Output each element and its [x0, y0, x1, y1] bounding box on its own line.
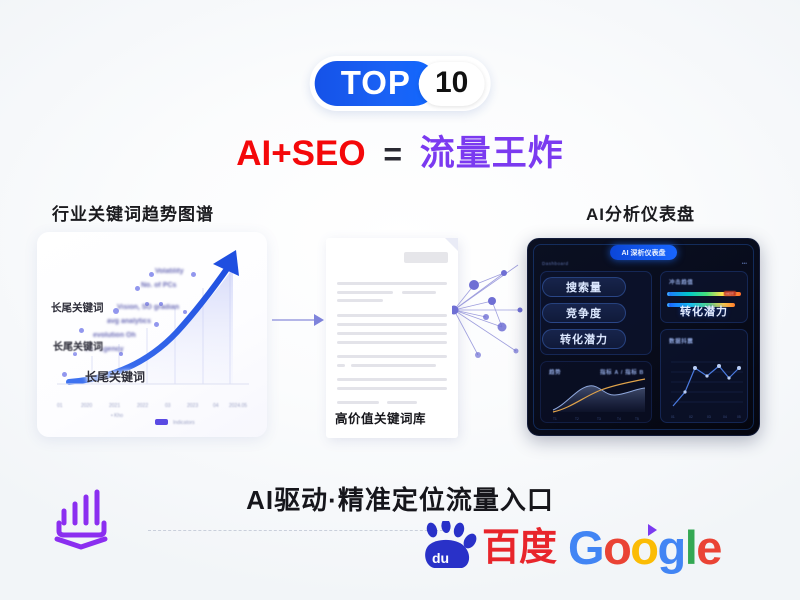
blur-word: Volatility: [155, 268, 184, 275]
google-logo-text: Google: [568, 524, 721, 571]
doc-text-line: [337, 314, 447, 317]
title-traffic: 流量王炸: [420, 134, 564, 173]
top-badge-number: 10: [419, 62, 484, 106]
ai-dashboard-card: AI 深析仪表盘 Dashboard ••• 搜索量 竞争度 转化潜力 冲击趋值…: [527, 238, 760, 436]
section-label-keyword-trend: 行业关键词趋势图谱: [52, 200, 214, 225]
axis-tick: 2023: [187, 403, 198, 409]
data-dot: [154, 322, 159, 327]
svg-text:03: 03: [707, 415, 711, 419]
svg-text:T3: T3: [597, 417, 601, 421]
doc-text-line: [337, 299, 383, 302]
hot-tag: HOT: [724, 291, 736, 296]
top-rank-badge: TOP 10: [310, 56, 491, 111]
play-triangle-icon: [648, 524, 657, 536]
doc-text-line: [337, 378, 447, 381]
keyword-label: 长尾关键词: [85, 368, 145, 385]
metric-pill-search-volume[interactable]: 搜索量: [542, 277, 626, 297]
doc-text-line: [337, 355, 447, 358]
svg-text:05: 05: [737, 415, 741, 419]
page-fold-icon: [445, 238, 458, 251]
data-dot: [191, 272, 196, 277]
axis-tick: 04: [213, 403, 219, 409]
baidu-du-text: du: [432, 550, 449, 566]
svg-text:T5: T5: [635, 417, 639, 421]
bar-chart-pedestal-icon: [47, 487, 119, 551]
metric-pill-conversion[interactable]: 转化潜力: [542, 329, 626, 349]
doc-text-line: [337, 332, 447, 335]
search-engine-logos: du 百度 Google: [418, 521, 721, 573]
legend-swatch: [155, 419, 168, 425]
svg-text:T2: T2: [575, 417, 579, 421]
doc-text-line: [402, 291, 436, 294]
legend-label: Indicators: [173, 420, 195, 426]
node-network-graphic: [452, 255, 530, 365]
doc-caption: 高价值关键词库: [335, 408, 426, 427]
keyword-library-document: 高价值关键词库: [326, 238, 458, 438]
doc-header-block: [404, 252, 448, 263]
panel-title: 冲击趋值: [669, 278, 693, 286]
conversion-overlay-label: 转化潜力: [680, 303, 728, 319]
dashboard-menu-icon[interactable]: •••: [742, 261, 747, 267]
baidu-logo-text: 百度: [482, 528, 556, 566]
svg-text:01: 01: [671, 415, 675, 419]
title-ai-seo: AI+SEO: [236, 134, 365, 173]
bottom-slogan: AI驱动·精准定位流量入口: [0, 480, 800, 517]
axis-tick: 03: [165, 403, 171, 409]
svg-text:04: 04: [723, 415, 727, 419]
data-fluctuation-panel: 数据抖震 0102 0304 05: [660, 329, 748, 423]
svg-text:T1: T1: [553, 417, 557, 421]
svg-text:T4: T4: [617, 417, 621, 421]
axis-tick: 01: [57, 403, 63, 409]
metric-pill-competition[interactable]: 竞争度: [542, 303, 626, 323]
data-dot: [183, 310, 187, 314]
doc-text-line: [337, 364, 345, 367]
data-dot: [149, 272, 154, 277]
axis-tick: 2021: [109, 403, 120, 409]
doc-text-line: [337, 387, 447, 390]
fluctuation-chart-svg: 0102 0304 05: [661, 330, 749, 424]
data-dot: [135, 286, 140, 291]
axis-tick: 2024.05: [229, 403, 247, 409]
trend-area-chart-svg: T1T2 T3T4 T5: [541, 362, 653, 424]
section-label-ai-dashboard: AI分析仪表盘: [586, 200, 695, 225]
axis-subtitle: • Kho: [111, 413, 123, 419]
keyword-label: 长尾关键词: [53, 338, 103, 353]
doc-text-line: [337, 401, 379, 404]
doc-text-line: [337, 341, 447, 344]
doc-text-line: [387, 401, 417, 404]
baidu-paw-icon: du: [418, 521, 480, 573]
data-dot: [79, 328, 84, 333]
doc-text-line: [337, 323, 447, 326]
doc-text-line: [351, 364, 436, 367]
svg-text:02: 02: [689, 415, 693, 419]
doc-text-line: [337, 291, 393, 294]
flow-arrow-icon: [272, 312, 326, 328]
data-dot: [62, 372, 67, 377]
divider-dashed-line: [148, 530, 448, 531]
axis-tick: 2022: [137, 403, 148, 409]
page-title: AI+SEO = 流量王炸: [0, 125, 800, 176]
trend-area-panel: 趋势 指标 A / 指标 B T1T2 T3T4 T5: [540, 361, 652, 423]
keyword-trend-card: Volatility No. of PCs Vision, SO gradian…: [37, 232, 267, 437]
blur-word: avg analytics: [107, 318, 151, 325]
keyword-label: 长尾关键词: [51, 300, 104, 315]
blur-word: No. of PCs: [141, 282, 176, 289]
impact-score-panel: 冲击趋值 HOT 转化潜力: [660, 271, 748, 323]
dashboard-title-badge: AI 深析仪表盘: [610, 245, 678, 260]
doc-text-line: [337, 282, 447, 285]
axis-tick: 2020: [81, 403, 92, 409]
blur-word: Vision, SO gradian: [117, 304, 179, 311]
title-equals: =: [383, 136, 402, 172]
dashboard-subtitle: Dashboard: [542, 261, 569, 266]
